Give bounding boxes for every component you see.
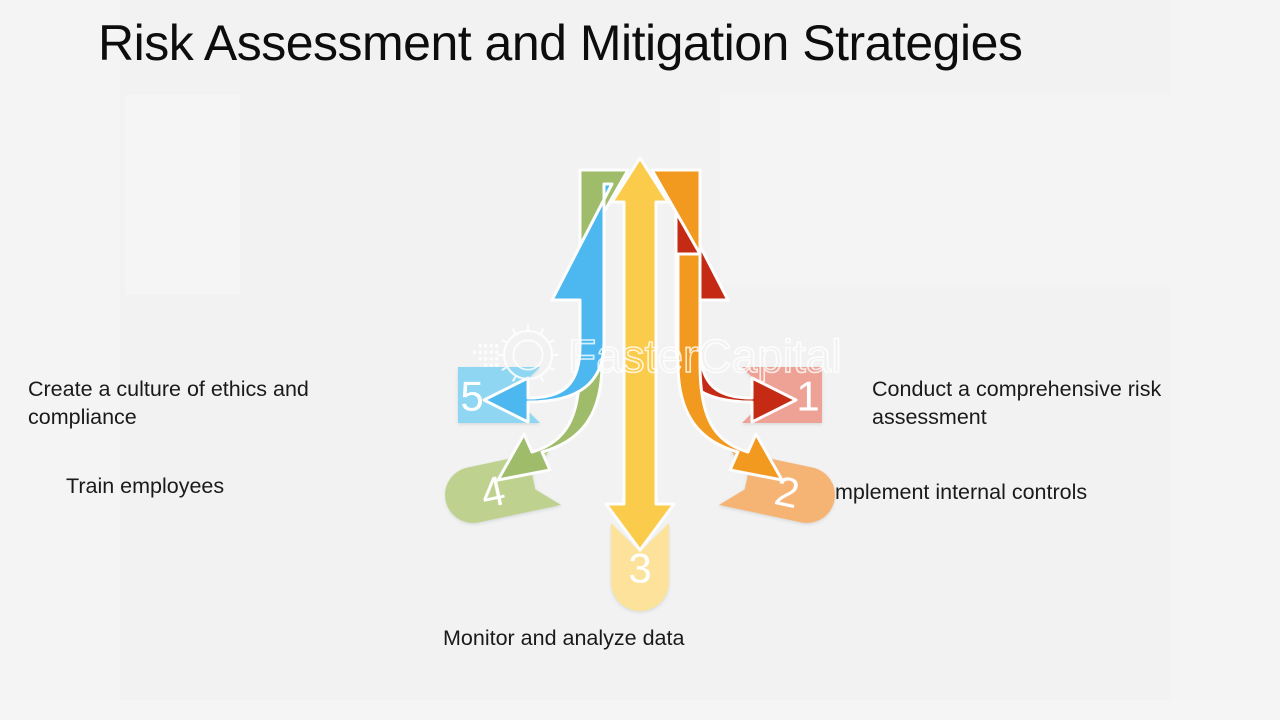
background-panel [0,700,1280,720]
ribbon-arrow-4 [498,170,628,480]
badge-5-number: 5 [460,373,483,420]
ribbon-arrow-2 [652,170,782,480]
badge-3-number: 3 [628,545,651,592]
step-label-1-line-1: Conduct a comprehensive risk [872,377,1161,401]
step-label-4: Train employees [66,472,406,500]
step-label-5-line-2: compliance [28,405,137,429]
step-label-1: Conduct a comprehensive risk assessment [872,375,1252,431]
background-panel [125,95,240,295]
page-title: Risk Assessment and Mitigation Strategie… [98,12,1198,74]
converging-arrows-diagram: 5 1 4 2 3 [400,150,880,630]
step-label-4-line-1: Train employees [66,474,224,498]
watermark-text: FasterCapital [568,330,842,382]
step-label-1-line-2: assessment [872,405,987,429]
step-label-5-line-1: Create a culture of ethics and [28,377,309,401]
step-label-5: Create a culture of ethics and complianc… [28,375,408,431]
slide-canvas: Risk Assessment and Mitigation Strategie… [0,0,1280,720]
step-label-2: Implement internal controls [829,478,1209,506]
